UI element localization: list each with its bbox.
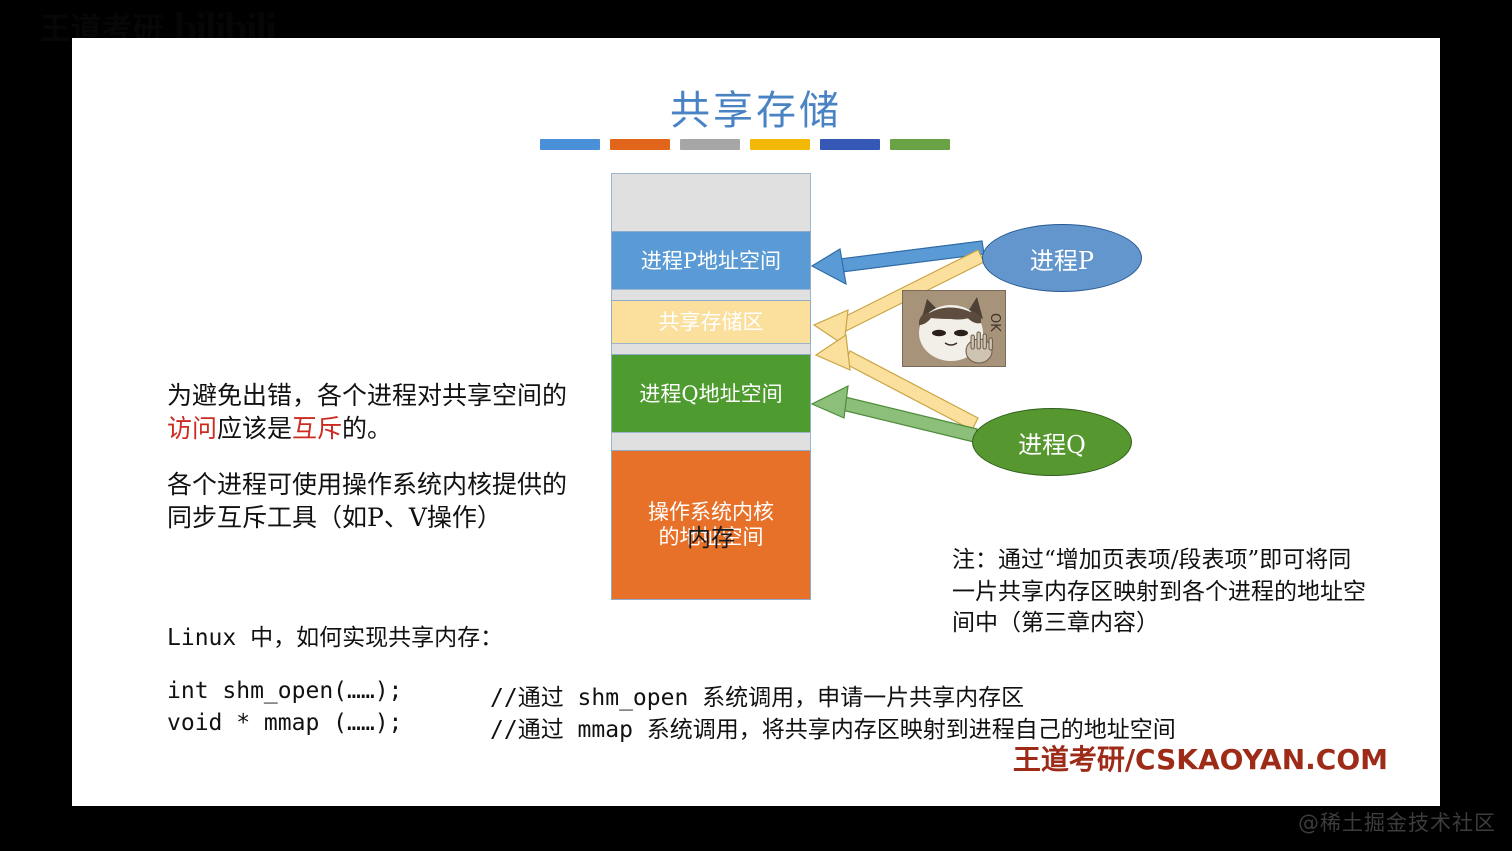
- process-p-label: 进程P: [1030, 241, 1094, 276]
- memory-block-process-q-space: 进程Q地址空间: [611, 354, 811, 434]
- code-line-mmap: void * mmap (……);: [167, 710, 402, 736]
- watermark-bottom-right: @稀土掘金技术社区: [1298, 807, 1496, 837]
- memory-block-label: 进程P地址空间: [641, 249, 781, 274]
- code-question-line: Linux 中，如何实现共享内存：: [167, 618, 503, 652]
- slide-canvas: 共享存储: [72, 38, 1440, 806]
- memory-block-process-p-space: 进程P地址空间: [611, 231, 811, 291]
- memory-block-label: 进程Q地址空间: [639, 382, 782, 407]
- paragraph-segment-3: 互斥: [292, 414, 342, 443]
- arrow-q-to-q-space: [812, 386, 977, 442]
- memory-block-shared-memory-area: 共享存储区: [611, 300, 811, 345]
- memory-block-top-free: [611, 173, 811, 233]
- brand-footer: 王道考研/CSKAOYAN.COM: [1013, 738, 1388, 778]
- process-q-node[interactable]: 进程Q: [972, 408, 1132, 476]
- process-p-node[interactable]: 进程P: [982, 224, 1142, 292]
- paragraph-segment-1: 访问: [167, 414, 217, 443]
- paragraph-sync-tools: 各个进程可使用操作系统内核提供的同步互斥工具（如P、V操作）: [167, 468, 587, 534]
- underbar-2: [610, 139, 670, 150]
- note-page-table: 注：通过“增加页表项/段表项”即可将同一片共享内存区映射到各个进程的地址空间中（…: [952, 545, 1372, 640]
- code-comment-shm-open: //通过 shm_open 系统调用，申请一片共享内存区: [490, 678, 1024, 712]
- cat-meme-image: OK: [902, 290, 1006, 367]
- memory-column-label: 内存: [611, 518, 811, 553]
- title-underbars: [540, 139, 950, 150]
- page-title: 共享存储: [72, 78, 1440, 136]
- screenshot-root: 王道考研 bilibili 共享存储: [0, 0, 1512, 851]
- underbar-5: [820, 139, 880, 150]
- underbar-1: [540, 139, 600, 150]
- paragraph-segment-4: 的。: [342, 414, 392, 443]
- process-q-label: 进程Q: [1018, 425, 1086, 460]
- memory-block-gap-3: [611, 432, 811, 452]
- code-line-shm-open: int shm_open(……);: [167, 678, 402, 704]
- underbar-4: [750, 139, 810, 150]
- paragraph-segment-0: 为避免出错，各个进程对共享空间的: [167, 381, 567, 410]
- arrow-p-to-p-space: [812, 241, 984, 284]
- memory-block-label: 共享存储区: [659, 310, 764, 335]
- underbar-6: [890, 139, 950, 150]
- svg-text:OK: OK: [987, 313, 1002, 332]
- underbar-3: [680, 139, 740, 150]
- paragraph-mutual-exclusion: 为避免出错，各个进程对共享空间的访问应该是互斥的。: [167, 379, 567, 445]
- paragraph-segment-2: 应该是: [217, 414, 292, 443]
